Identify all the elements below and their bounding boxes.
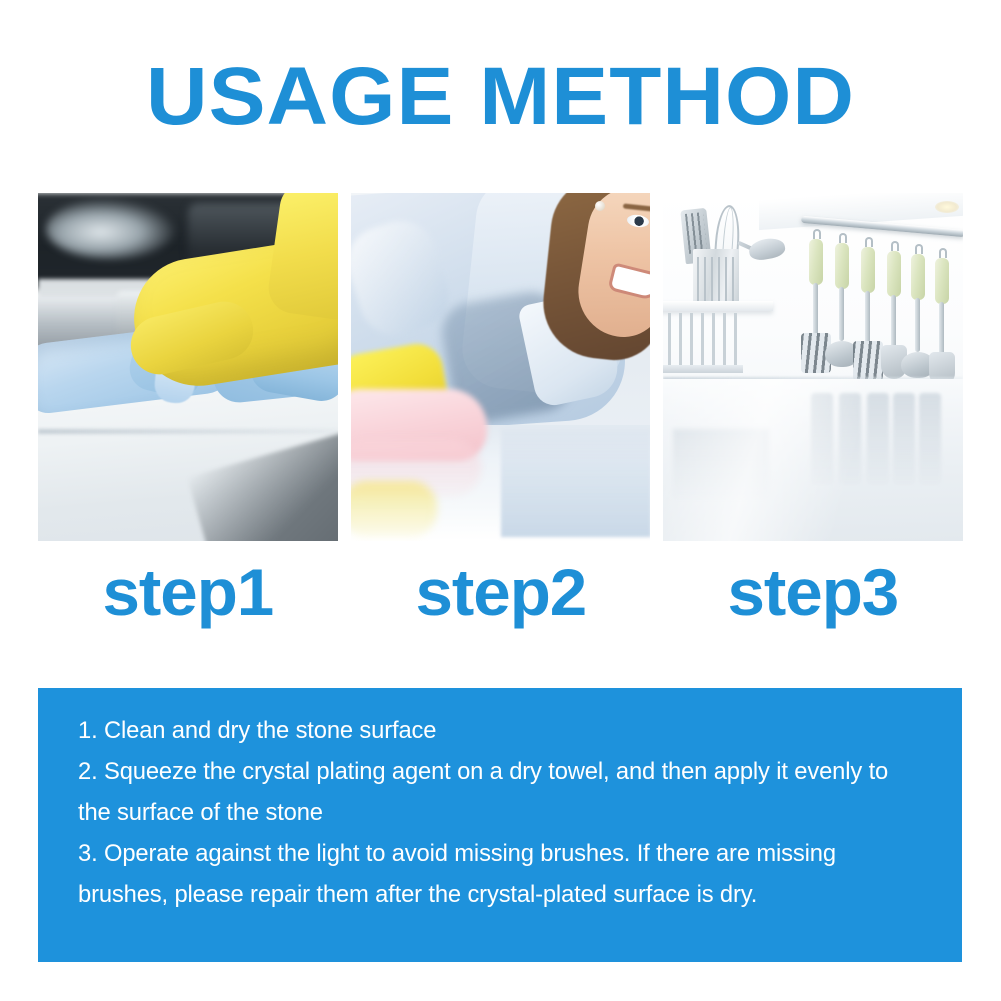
step3-photo — [663, 193, 963, 541]
instruction-line-1: 1. Clean and dry the stone surface — [78, 710, 903, 751]
utensil-handle — [861, 247, 875, 293]
wall-shelf — [663, 301, 773, 311]
utensil-reflection — [839, 393, 861, 485]
utensil-shaft — [891, 295, 896, 349]
utensil-handle — [911, 254, 925, 300]
instruction-line-2: 2. Squeeze the crystal plating agent on … — [78, 751, 903, 833]
stove-highlight — [46, 199, 176, 259]
photo-row — [38, 193, 963, 541]
step-labels: step1 step2 step3 — [38, 550, 963, 640]
utensil-handle — [835, 243, 849, 289]
usage-method-poster: USAGE METHOD — [0, 0, 1001, 1001]
utensil-handle — [935, 258, 949, 304]
step1-photo — [38, 193, 338, 541]
glove-reflection — [351, 481, 437, 537]
step-label-3: step3 — [660, 550, 966, 640]
instruction-line-3: 3. Operate against the light to avoid mi… — [78, 833, 903, 915]
utensil-shaft — [865, 291, 870, 345]
utensil-handle — [809, 239, 823, 285]
utensil-reflection — [811, 393, 833, 485]
instructions-panel: 1. Clean and dry the stone surface 2. Sq… — [38, 688, 962, 962]
utensil-reflection — [919, 393, 941, 485]
earring — [595, 201, 605, 211]
page-title: USAGE METHOD — [0, 52, 1001, 142]
rail-hook — [939, 248, 947, 258]
step-label-2: step2 — [348, 550, 654, 640]
utensil-handle — [887, 251, 901, 297]
utensil-shaft — [839, 287, 844, 341]
rail-hook — [915, 244, 923, 254]
utensil-head-slotted — [853, 341, 883, 381]
step-label-1: step1 — [35, 550, 341, 640]
utensil-shaft — [915, 298, 920, 352]
rail-hook — [865, 237, 873, 247]
utensil-shaft — [813, 283, 818, 337]
rail-hook — [891, 241, 899, 251]
countertop-edge — [38, 429, 338, 434]
rail-hook — [839, 233, 847, 243]
utensil-reflection — [893, 393, 915, 485]
shelf-reflection — [673, 429, 769, 499]
utensil-shaft — [939, 302, 944, 356]
step2-photo — [351, 193, 651, 541]
wall-rack-base — [663, 365, 743, 373]
utensil-stems — [697, 257, 737, 307]
shirt-reflection — [501, 429, 651, 537]
wall-rack-bars — [663, 313, 741, 371]
utensil-reflection — [867, 393, 889, 485]
rail-hook — [813, 229, 821, 239]
